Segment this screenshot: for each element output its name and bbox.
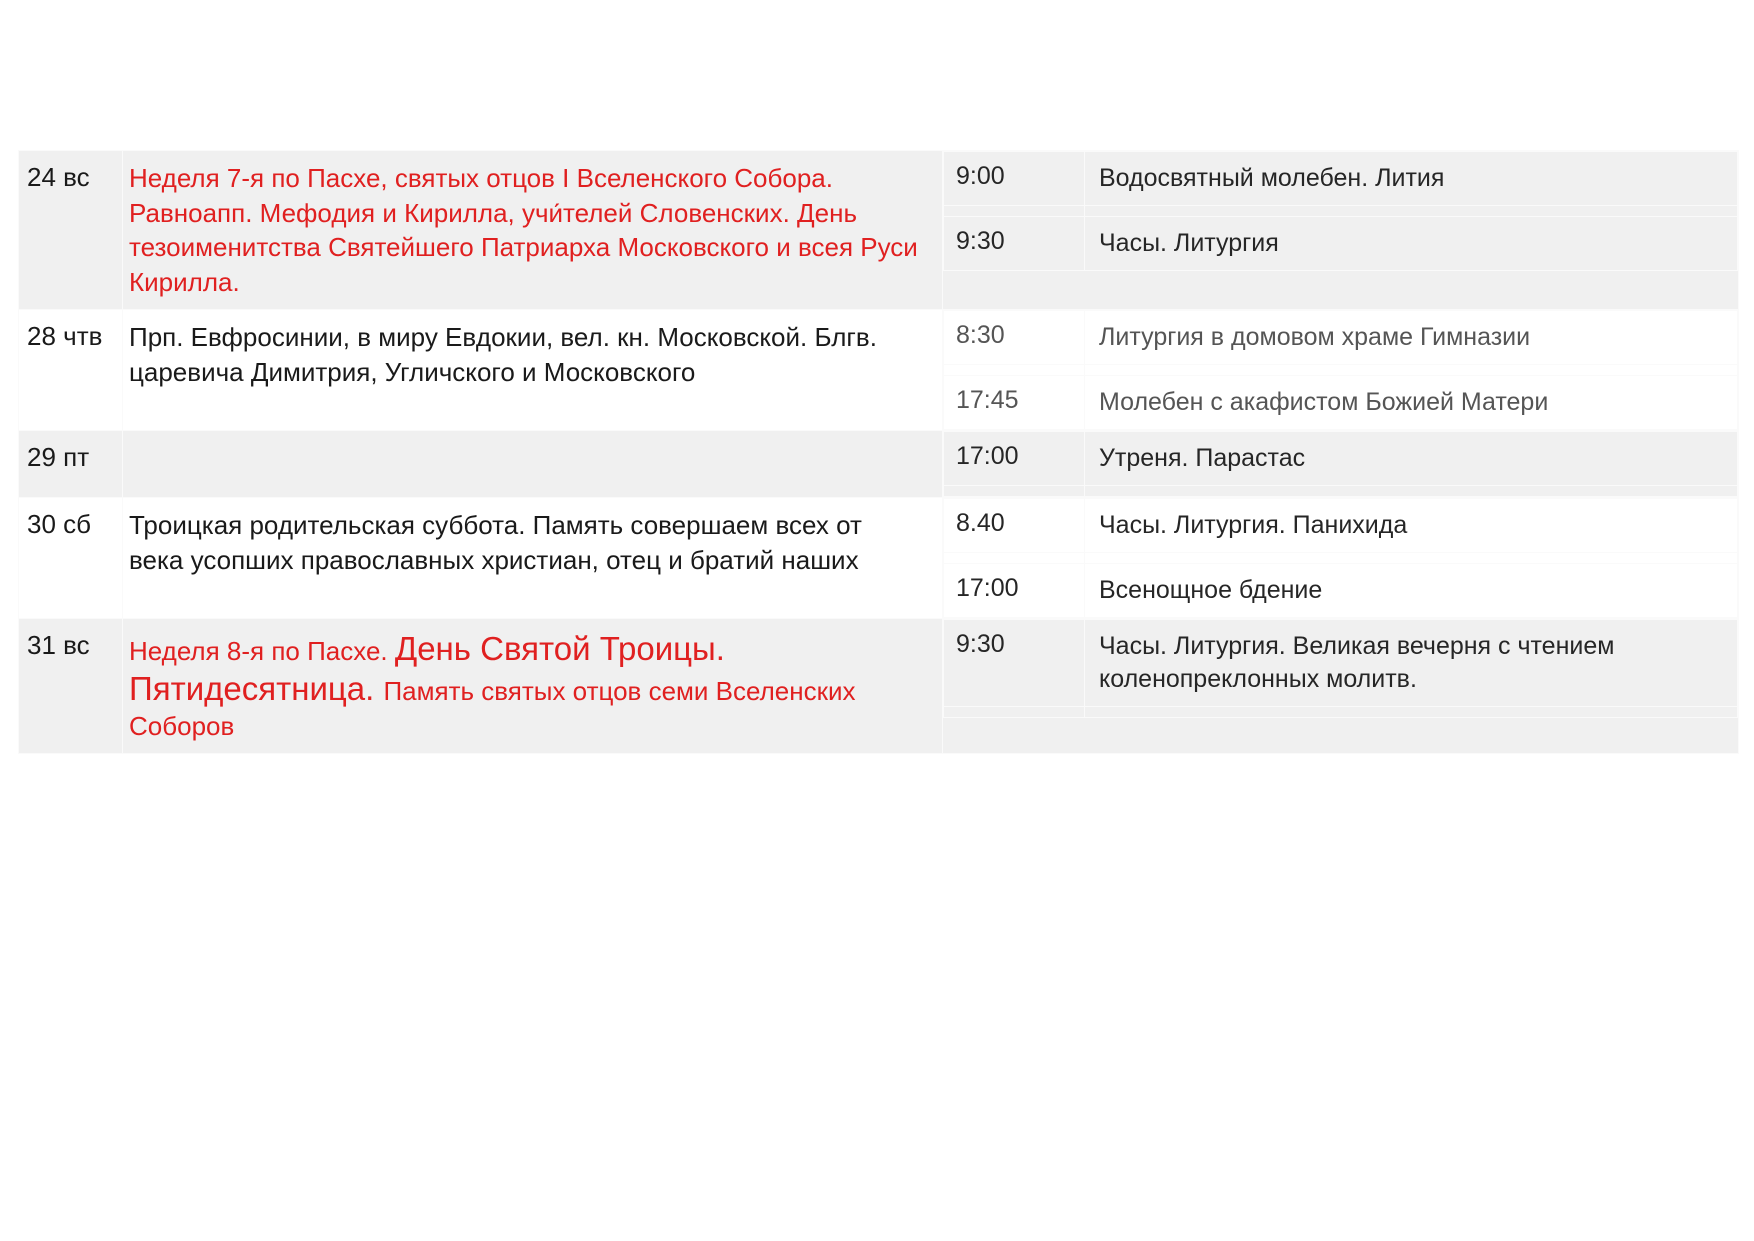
row-description-cell: Троицкая родительская суббота. Память со… [123,498,943,619]
row-date-cell: 28 чтв [19,310,123,431]
service-row: 9:00 Водосвятный молебен. Лития [944,152,1738,206]
row-date-cell: 31 вс [19,619,123,754]
row-description-cell [123,431,943,498]
date-label: 29 пт [27,442,89,472]
service-event: Утреня. Парастас [1085,432,1738,486]
table-row: 31 вс Неделя 8-я по Пасхе. День Святой Т… [19,619,1739,754]
services-table: 9:00 Водосвятный молебен. Лития 9:30 Час… [943,151,1738,271]
row-services-cell: 9:30 Часы. Литургия. Великая вечерня с ч… [943,619,1739,754]
service-time: 9:00 [944,152,1085,206]
service-time: 8:30 [944,311,1085,365]
description-part-prefix: Неделя 8-я по Пасхе. [129,636,395,666]
table-row: 29 пт 17:00 Утреня. Парастас [19,431,1739,498]
service-row: 8.40 Часы. Литургия. Панихида [944,499,1738,553]
date-label: 24 вс [27,162,90,192]
service-event: Водосвятный молебен. Лития [1085,152,1738,206]
services-table: 9:30 Часы. Литургия. Великая вечерня с ч… [943,619,1738,718]
service-event: Часы. Литургия [1085,217,1738,271]
description-text: Неделя 7-я по Пасхе, святых отцов I Всел… [129,163,918,297]
service-spacer [944,707,1738,718]
row-services-cell: 9:00 Водосвятный молебен. Лития 9:30 Час… [943,151,1739,310]
row-date-cell: 24 вс [19,151,123,310]
row-description-cell: Неделя 7-я по Пасхе, святых отцов I Всел… [123,151,943,310]
service-row: 17:45 Молебен с акафистом Божией Матери [944,376,1738,430]
service-event: Часы. Литургия. Панихида [1085,499,1738,553]
row-services-cell: 8:30 Литургия в домовом храме Гимназии 1… [943,310,1739,431]
row-date-cell: 29 пт [19,431,123,498]
row-date-cell: 30 сб [19,498,123,619]
service-event: Литургия в домовом храме Гимназии [1085,311,1738,365]
service-spacer [944,553,1738,564]
schedule-table-body: 24 вс Неделя 7-я по Пасхе, святых отцов … [19,151,1739,754]
service-row: 9:30 Часы. Литургия [944,217,1738,271]
row-description-cell: Прп. Евфросинии, в миру Евдокии, вел. кн… [123,310,943,431]
row-services-cell: 17:00 Утреня. Парастас [943,431,1739,498]
service-spacer [944,486,1738,497]
service-spacer [944,206,1738,217]
services-table: 8:30 Литургия в домовом храме Гимназии 1… [943,310,1738,430]
date-label: 31 вс [27,630,90,660]
service-time: 17:00 [944,432,1085,486]
row-description-cell: Неделя 8-я по Пасхе. День Святой Троицы.… [123,619,943,754]
table-row: 28 чтв Прп. Евфросинии, в миру Евдокии, … [19,310,1739,431]
row-services-cell: 8.40 Часы. Литургия. Панихида 17:00 Всен… [943,498,1739,619]
service-time: 9:30 [944,217,1085,271]
table-row: 30 сб Троицкая родительская суббота. Пам… [19,498,1739,619]
service-row: 8:30 Литургия в домовом храме Гимназии [944,311,1738,365]
service-time: 9:30 [944,620,1085,707]
service-event: Всенощное бдение [1085,564,1738,618]
service-time: 17:00 [944,564,1085,618]
services-table: 8.40 Часы. Литургия. Панихида 17:00 Всен… [943,498,1738,618]
service-time: 17:45 [944,376,1085,430]
date-label: 30 сб [27,509,91,539]
service-event: Часы. Литургия. Великая вечерня с чтение… [1085,620,1738,707]
service-schedule-table: 24 вс Неделя 7-я по Пасхе, святых отцов … [18,150,1739,754]
service-event: Молебен с акафистом Божией Матери [1085,376,1738,430]
service-spacer [944,365,1738,376]
description-text: Прп. Евфросинии, в миру Евдокии, вел. кн… [129,322,877,387]
description-text: Троицкая родительская суббота. Память со… [129,510,862,575]
services-table: 17:00 Утреня. Парастас [943,431,1738,497]
service-row: 17:00 Утреня. Парастас [944,432,1738,486]
service-row: 9:30 Часы. Литургия. Великая вечерня с ч… [944,620,1738,707]
date-label: 28 чтв [27,321,102,351]
table-row: 24 вс Неделя 7-я по Пасхе, святых отцов … [19,151,1739,310]
service-row: 17:00 Всенощное бдение [944,564,1738,618]
service-time: 8.40 [944,499,1085,553]
